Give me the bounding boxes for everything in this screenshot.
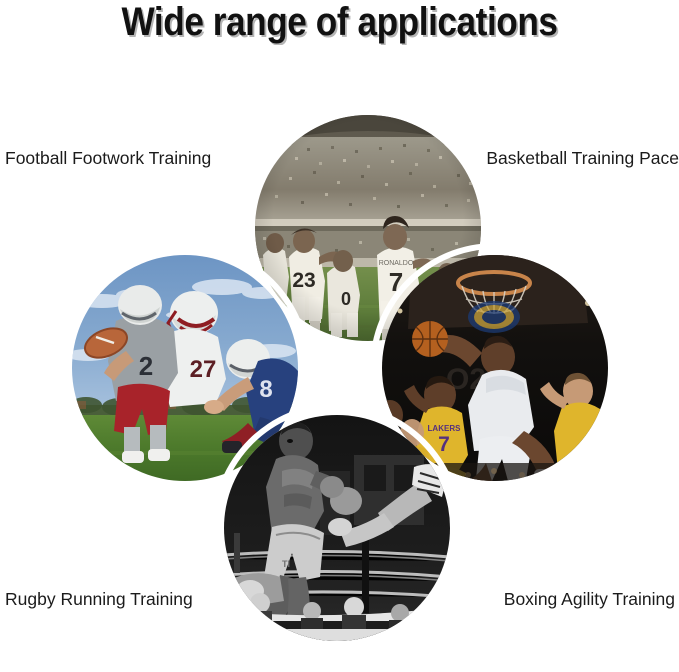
svg-text:TI: TI [282, 559, 290, 569]
caption-football-footwork-training: Football Footwork Training [5, 147, 211, 169]
caption-rugby-running-training: Rugby Running Training [5, 588, 193, 610]
svg-text:7: 7 [438, 433, 450, 456]
application-collage: Wide range of applications [0, 0, 679, 672]
boxing-photo-art: TI [224, 415, 450, 641]
photo-boxing: TI [224, 415, 450, 641]
svg-text:27: 27 [190, 356, 217, 383]
svg-text:8: 8 [259, 376, 272, 403]
caption-boxing-agility-training: Boxing Agility Training [504, 588, 675, 610]
caption-basketball-training-pace: Basketball Training Pace [486, 147, 679, 169]
svg-text:LAKERS: LAKERS [428, 424, 462, 433]
svg-text:2: 2 [139, 351, 153, 381]
page-title: Wide range of applications [41, 0, 639, 44]
